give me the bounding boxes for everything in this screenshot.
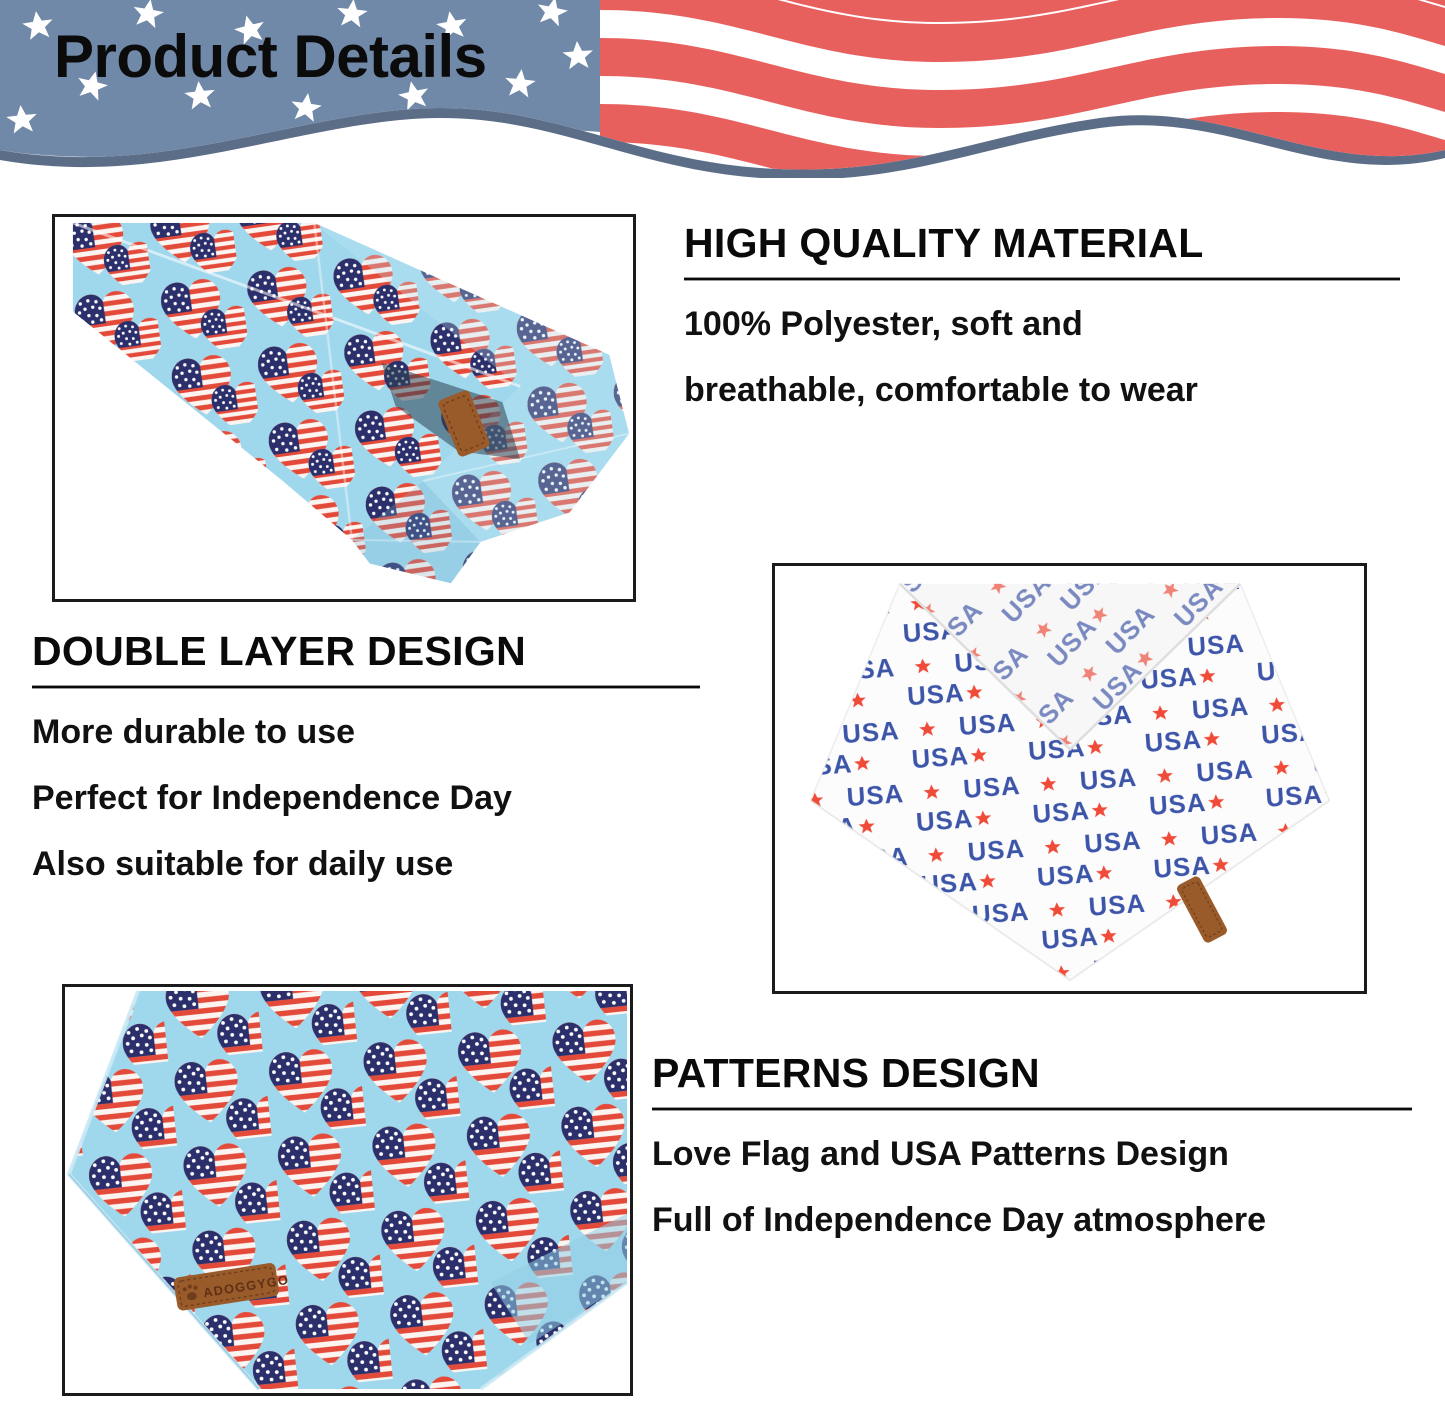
section-divider (684, 277, 1400, 281)
section-line: Love Flag and USA Patterns Design (652, 1137, 1412, 1171)
section-body: Love Flag and USA Patterns Design Full o… (652, 1137, 1412, 1237)
section-line: More durable to use (32, 715, 700, 749)
heart-bandana-image: ADOGGYGO (65, 987, 630, 1393)
product-photo-folded-bandana (52, 214, 636, 602)
section-body: More durable to use Perfect for Independ… (32, 715, 700, 881)
section-heading: DOUBLE LAYER DESIGN (32, 630, 700, 673)
section-divider (652, 1107, 1412, 1111)
section-high-quality-material: HIGH QUALITY MATERIAL 100% Polyester, so… (684, 222, 1400, 407)
section-body: 100% Polyester, soft and breathable, com… (684, 307, 1400, 407)
section-line: 100% Polyester, soft and (684, 307, 1400, 341)
section-line: Perfect for Independence Day (32, 781, 700, 815)
section-double-layer-design: DOUBLE LAYER DESIGN More durable to use … (32, 630, 700, 881)
section-line: breathable, comfortable to wear (684, 373, 1400, 407)
product-photo-usa-bandana: USA USA USA USA (772, 563, 1367, 994)
section-patterns-design: PATTERNS DESIGN Love Flag and USA Patter… (652, 1052, 1412, 1237)
usa-bandana-image: USA USA USA USA (775, 566, 1364, 991)
section-heading: HIGH QUALITY MATERIAL (684, 222, 1400, 265)
section-heading: PATTERNS DESIGN (652, 1052, 1412, 1095)
flag-banner: Product Details (0, 0, 1445, 178)
section-divider (32, 685, 700, 689)
product-details-infographic: Product Details (0, 0, 1445, 1406)
page-title: Product Details (54, 22, 487, 91)
product-photo-heart-bandana: ADOGGYGO (62, 984, 633, 1396)
folded-bandana-image (55, 217, 633, 599)
section-line: Full of Independence Day atmosphere (652, 1203, 1412, 1237)
section-line: Also suitable for daily use (32, 847, 700, 881)
